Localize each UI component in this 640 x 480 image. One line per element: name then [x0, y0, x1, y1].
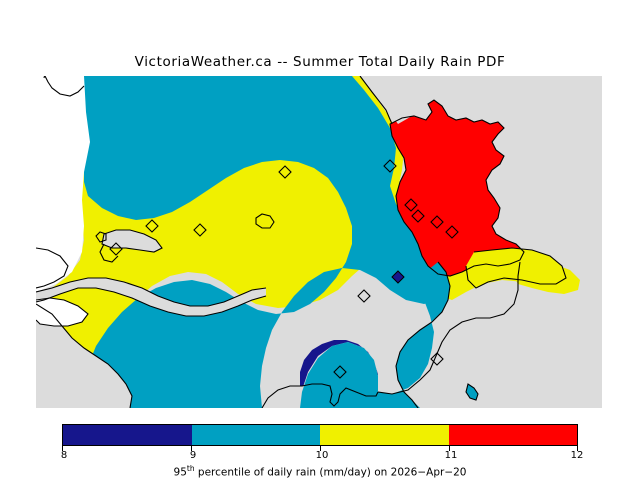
colorbar-segment-11-12: [449, 425, 578, 445]
colorbar-legend: 8 9 10 11 12 95th percentile of daily ra…: [0, 424, 640, 480]
caption-prefix: 95: [174, 467, 187, 479]
colorbar-tick-label: 11: [445, 450, 458, 461]
colorbar-tick-label: 12: [571, 450, 584, 461]
colorbar-tick-label: 8: [61, 450, 67, 461]
caption-rest: percentile of daily rain (mm/day) on 202…: [195, 467, 467, 479]
colorbar-tick-label: 9: [190, 450, 196, 461]
colorbar-gradient: [62, 424, 578, 446]
colorbar-segment-9-10: [192, 425, 321, 445]
rainfall-contour-map-figure: [0, 0, 640, 480]
caption-ordinal-suffix: th: [187, 464, 195, 473]
colorbar-segment-8-9: [63, 425, 192, 445]
colorbar-segment-10-11: [320, 425, 449, 445]
page-title: VictoriaWeather.ca -- Summer Total Daily…: [0, 54, 640, 70]
colorbar-tick-labels: 8 9 10 11 12: [0, 450, 640, 464]
colorbar-caption: 95th percentile of daily rain (mm/day) o…: [0, 464, 640, 479]
colorbar-tick-label: 10: [316, 450, 329, 461]
map-canvas: [36, 70, 602, 408]
